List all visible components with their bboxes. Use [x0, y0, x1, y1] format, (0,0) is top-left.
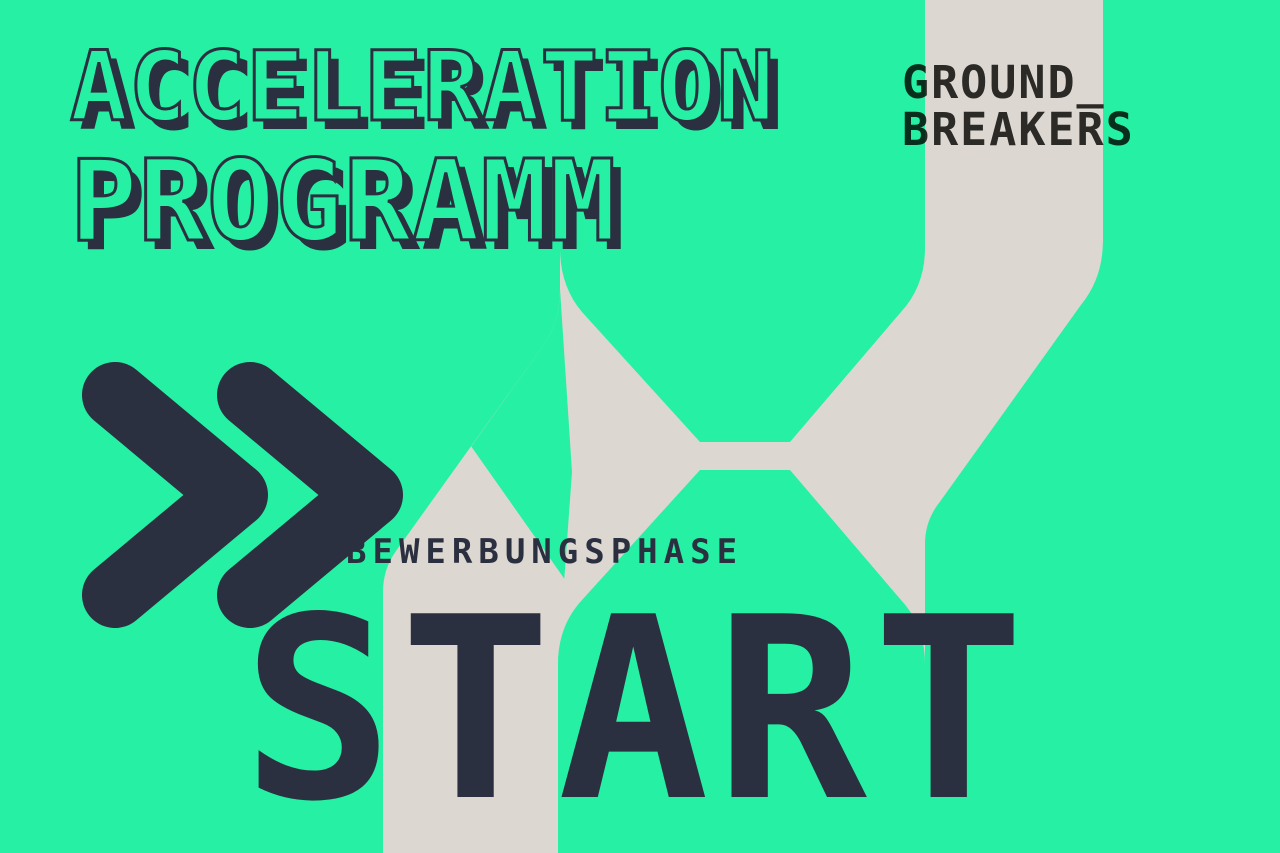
- logo-line2: BREAKERS: [902, 103, 1135, 156]
- content-layer: ACCELERATION PROGRAMM ACCELERATION PROGR…: [0, 0, 1280, 853]
- poster-canvas: ACCELERATION PROGRAMM ACCELERATION PROGR…: [0, 0, 1280, 853]
- callout-block: START: [0, 575, 1280, 853]
- logo-line1: GROUND_: [902, 56, 1106, 109]
- subhead-label: BEWERBUNGSPHASE: [346, 532, 743, 572]
- callout-word: START: [242, 575, 1031, 853]
- logo-block[interactable]: GROUND_ BREAKERS: [0, 40, 1280, 220]
- logo-lockup[interactable]: GROUND_ BREAKERS: [902, 56, 1135, 156]
